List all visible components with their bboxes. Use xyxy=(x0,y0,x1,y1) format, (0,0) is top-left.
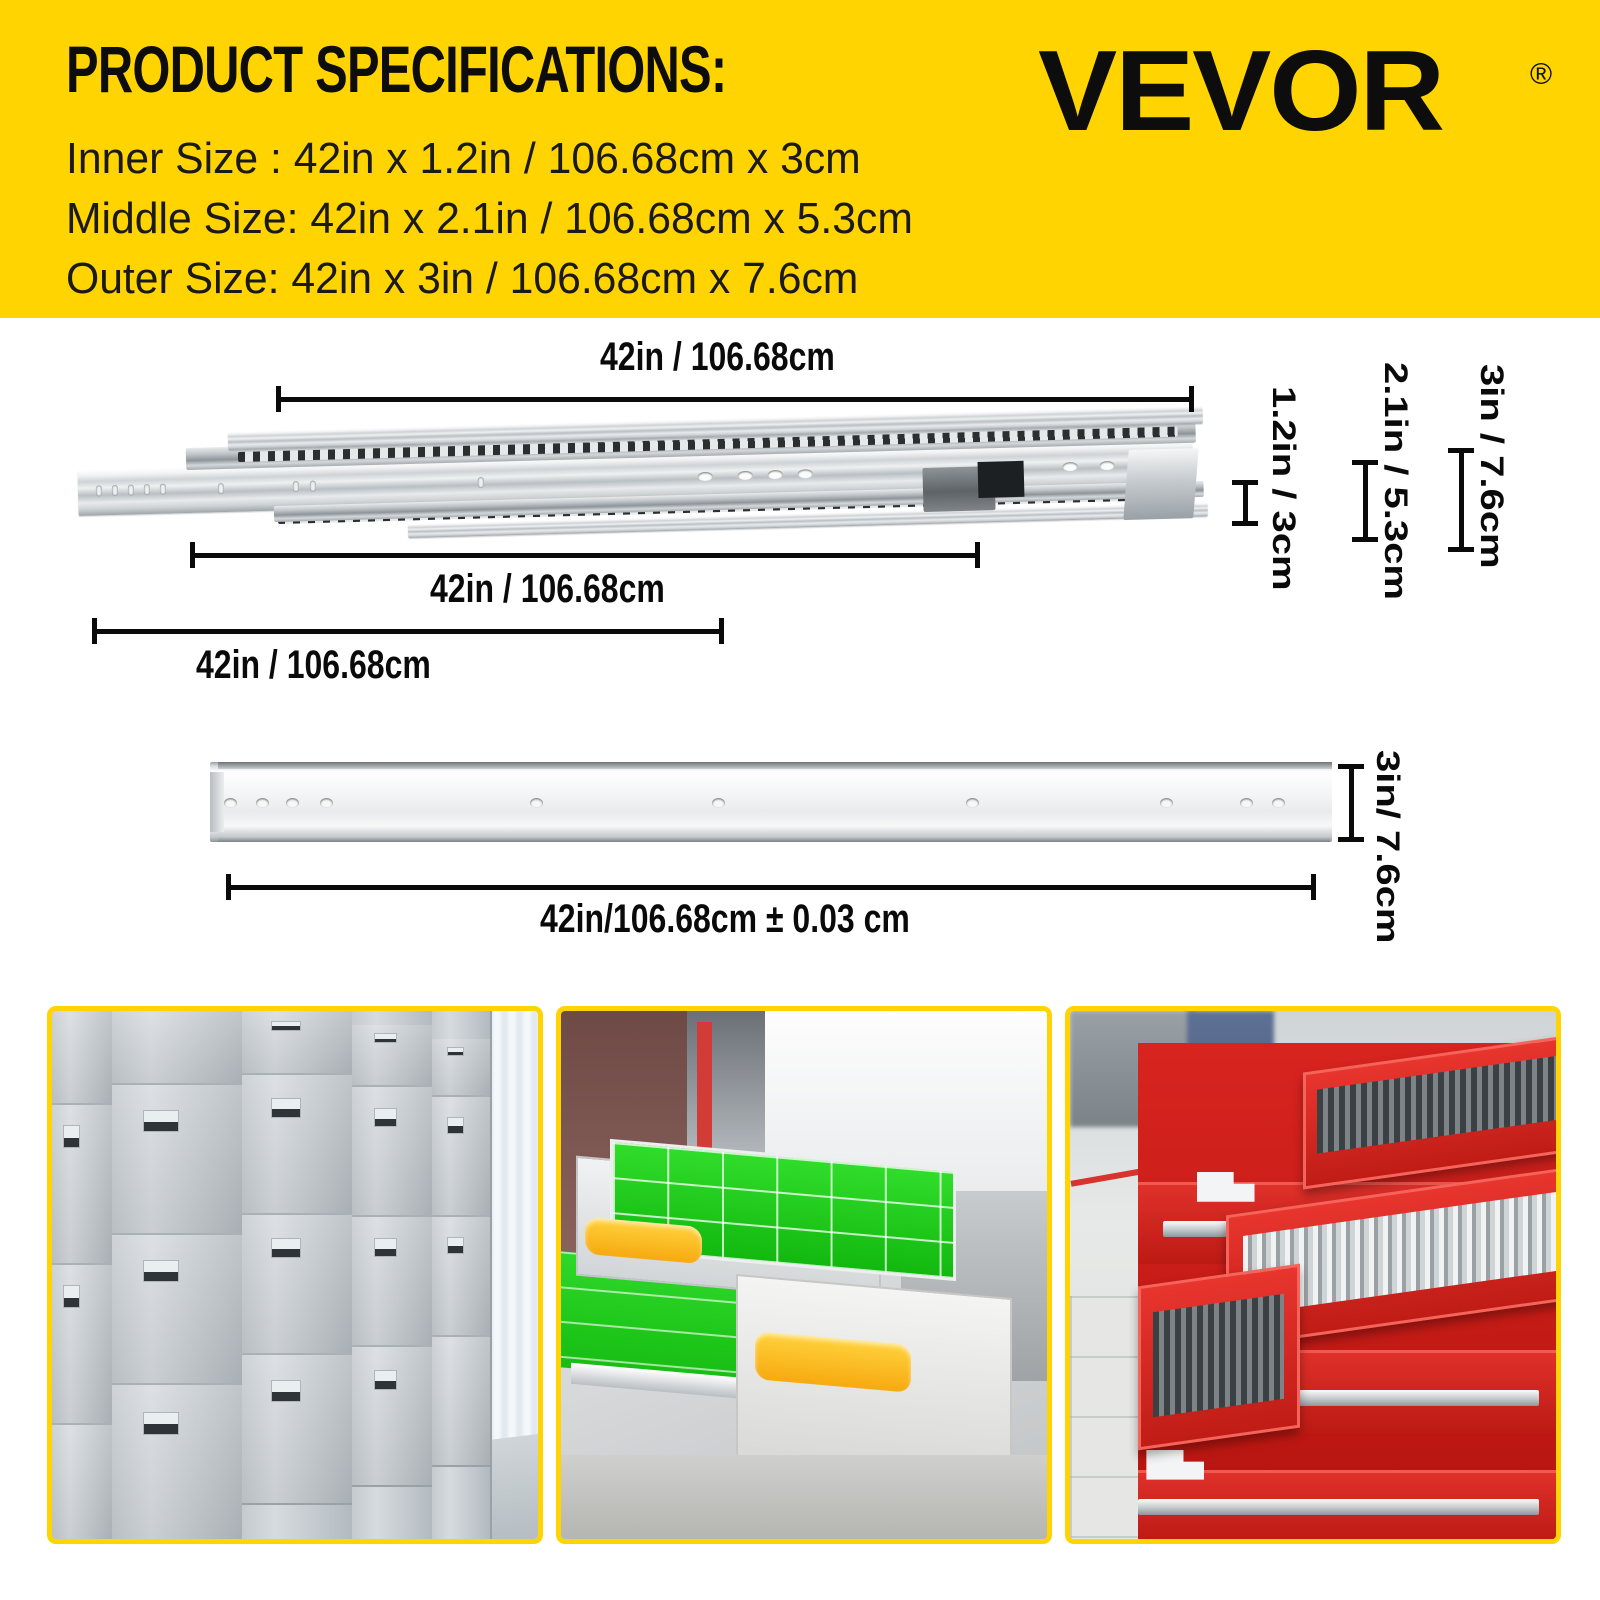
dimension-label-inner-height: 1.2in / 3cm xyxy=(1266,386,1300,591)
single-rail-image xyxy=(210,762,1332,842)
dimension-label-middle-height: 2.1in / 5.3cm xyxy=(1378,362,1412,600)
brand-wordmark: VEVOR xyxy=(1038,34,1443,148)
spec-line-middle-size: Middle Size: 42in x 2.1in / 106.68cm x 5… xyxy=(66,196,913,242)
dimension-label-top-length: 42in / 106.68cm xyxy=(600,336,835,378)
photo-strip xyxy=(0,1006,1600,1546)
dimension-bar-middle-height xyxy=(1352,460,1378,542)
dimension-label-single-rail-height: 3in/ 7.6cm xyxy=(1370,750,1404,943)
spec-line-outer-size: Outer Size: 42in x 3in / 106.68cm x 7.6c… xyxy=(66,256,858,302)
photo-gray-filing-lockers xyxy=(47,1006,543,1544)
red-stripe xyxy=(697,1022,712,1159)
diagram-area: 42in / 106.68cm 42in / 106.68cm 42in / 1… xyxy=(0,318,1600,1000)
registered-trademark-icon: ® xyxy=(1530,60,1552,90)
header-banner: PRODUCT SPECIFICATIONS: Inner Size : 42i… xyxy=(0,0,1600,318)
dimension-bar-middle-length xyxy=(190,542,980,568)
dimension-label-single-rail-length: 42in/106.68cm ± 0.03 cm xyxy=(540,898,910,940)
slide-assembly-image xyxy=(78,418,1210,548)
open-drawer-bottom xyxy=(1138,1264,1300,1451)
lock-mechanism-shadow xyxy=(978,461,1025,498)
dimension-bar-inner-height xyxy=(1232,480,1258,526)
vevor-logo: VEVOR ® xyxy=(1038,34,1578,144)
photo-red-tool-chest xyxy=(1065,1006,1561,1544)
photo-workshop-drawers xyxy=(556,1006,1052,1544)
page-title: PRODUCT SPECIFICATIONS: xyxy=(66,34,726,104)
dimension-bar-outer-height xyxy=(1448,448,1474,552)
drawer-slide-bottom xyxy=(1138,1499,1539,1515)
floor xyxy=(561,1455,1047,1539)
drawers-scene xyxy=(561,1011,1047,1539)
rail-end-cap xyxy=(1123,448,1198,520)
toolchest-scene xyxy=(1070,1011,1556,1539)
spec-line-inner-size: Inner Size : 42in x 1.2in / 106.68cm x 3… xyxy=(66,136,861,182)
dimension-label-outer-height: 3in / 7.6cm xyxy=(1474,364,1508,569)
dimension-label-bottom-length: 42in / 106.68cm xyxy=(196,644,431,686)
single-rail-top-lip xyxy=(218,762,1332,769)
dimension-label-middle-length: 42in / 106.68cm xyxy=(430,568,665,610)
dimension-bar-single-rail-height xyxy=(1338,764,1364,842)
dimension-bar-top-length xyxy=(276,386,1194,412)
single-rail-left-notch xyxy=(210,772,224,832)
dimension-bar-bottom-length xyxy=(92,618,724,644)
single-rail-bottom-lip xyxy=(218,836,1330,842)
lockers-scene xyxy=(52,1011,538,1539)
